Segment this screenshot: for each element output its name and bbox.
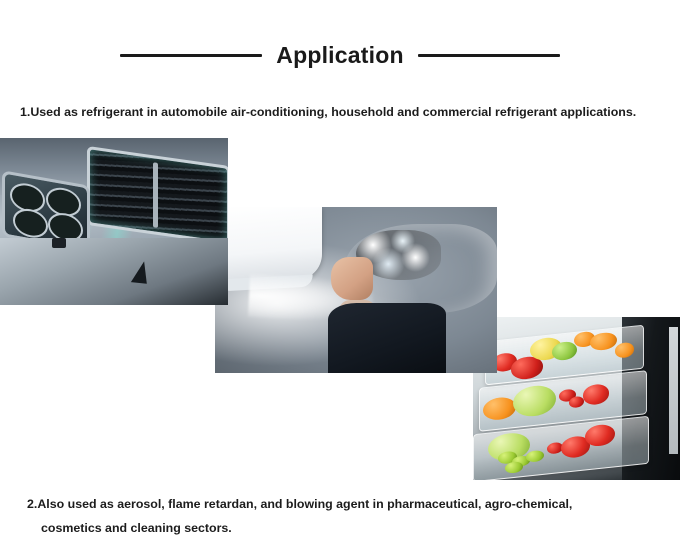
produce-item (513, 383, 556, 418)
application-point-1: 1.Used as refrigerant in automobile air-… (20, 103, 670, 122)
image-car-air-conditioning-vent (0, 138, 228, 305)
produce-item (615, 342, 634, 358)
page-header: Application (0, 38, 680, 72)
application-point-2: 2.Also used as aerosol, flame retardan, … (27, 492, 667, 540)
produce-item (590, 331, 617, 352)
produce-item (552, 341, 577, 362)
woman-dark-coat (328, 303, 446, 373)
application-point-2-line-1: 2.Also used as aerosol, flame retardan, … (27, 497, 572, 511)
woman-face-profile (331, 257, 373, 300)
image-refrigerator-fresh-produce (473, 317, 680, 480)
fridge-door-panel (669, 327, 678, 454)
produce-item (484, 396, 517, 422)
wall-split-ac-unit (215, 207, 322, 280)
car-console-button (52, 238, 66, 248)
produce-item (526, 449, 543, 462)
page-title: Application (276, 44, 403, 67)
divider-line-right (418, 54, 560, 57)
image-split-air-conditioner-frozen-hair (215, 207, 497, 373)
produce-item (583, 384, 609, 406)
produce-item (585, 423, 615, 447)
application-point-2-line-2: cosmetics and cleaning sectors. (27, 516, 667, 540)
cupholder-hole (13, 207, 48, 241)
produce-item (505, 461, 522, 474)
car-gearshift-marker (131, 261, 149, 285)
car-lower-console (0, 238, 228, 305)
divider-line-left (120, 54, 262, 57)
